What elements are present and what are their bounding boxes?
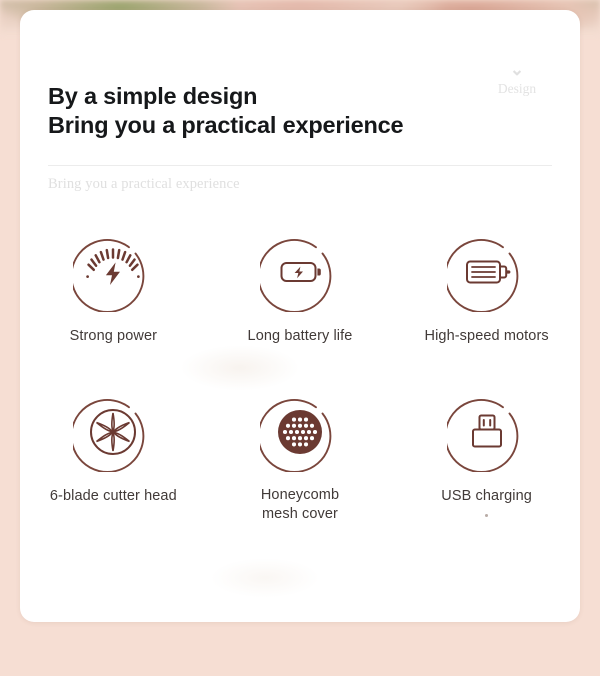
feature-label: USB charging: [441, 487, 532, 506]
watermark-label: Design: [487, 81, 547, 97]
feature-label: Honeycomb mesh cover: [261, 486, 339, 524]
battery-bolt-icon: [260, 232, 340, 312]
feature-item-usb-charging: USB charging: [393, 392, 580, 524]
feature-item-long-battery-life: Long battery life: [207, 232, 394, 346]
cutter-blade-icon: [73, 392, 153, 472]
motor-icon: [447, 232, 527, 312]
page-subtitle: Bring you a practical experience: [48, 176, 240, 193]
headline-line-2: Bring you a practical experience: [48, 111, 403, 140]
headline-line-1: By a simple design: [48, 82, 403, 111]
usb-plug-icon: [447, 392, 527, 472]
feature-card: By a simple design Bring you a practical…: [20, 10, 580, 622]
feature-item-honeycomb-mesh: Honeycomb mesh cover: [207, 392, 394, 524]
power-gauge-icon: [73, 232, 153, 312]
page-title: By a simple design Bring you a practical…: [48, 82, 403, 140]
background-ghost-blob: [210, 558, 320, 598]
feature-label: Long battery life: [248, 327, 353, 346]
design-watermark: ⌄ Design: [487, 62, 547, 97]
header-divider: [48, 165, 552, 166]
feature-item-high-speed-motors: High-speed motors: [393, 232, 580, 346]
honeycomb-mesh-icon: [260, 392, 340, 472]
feature-label: Strong power: [70, 327, 157, 346]
stray-dot-artifact: [485, 514, 488, 517]
feature-label: 6-blade cutter head: [50, 487, 177, 506]
feature-item-cutter-head: 6-blade cutter head: [20, 392, 207, 524]
feature-label: High-speed motors: [425, 327, 549, 346]
chevron-down-icon: ⌄: [487, 62, 547, 77]
feature-item-strong-power: Strong power: [20, 232, 207, 346]
feature-grid: Strong power Long battery life: [20, 232, 580, 524]
